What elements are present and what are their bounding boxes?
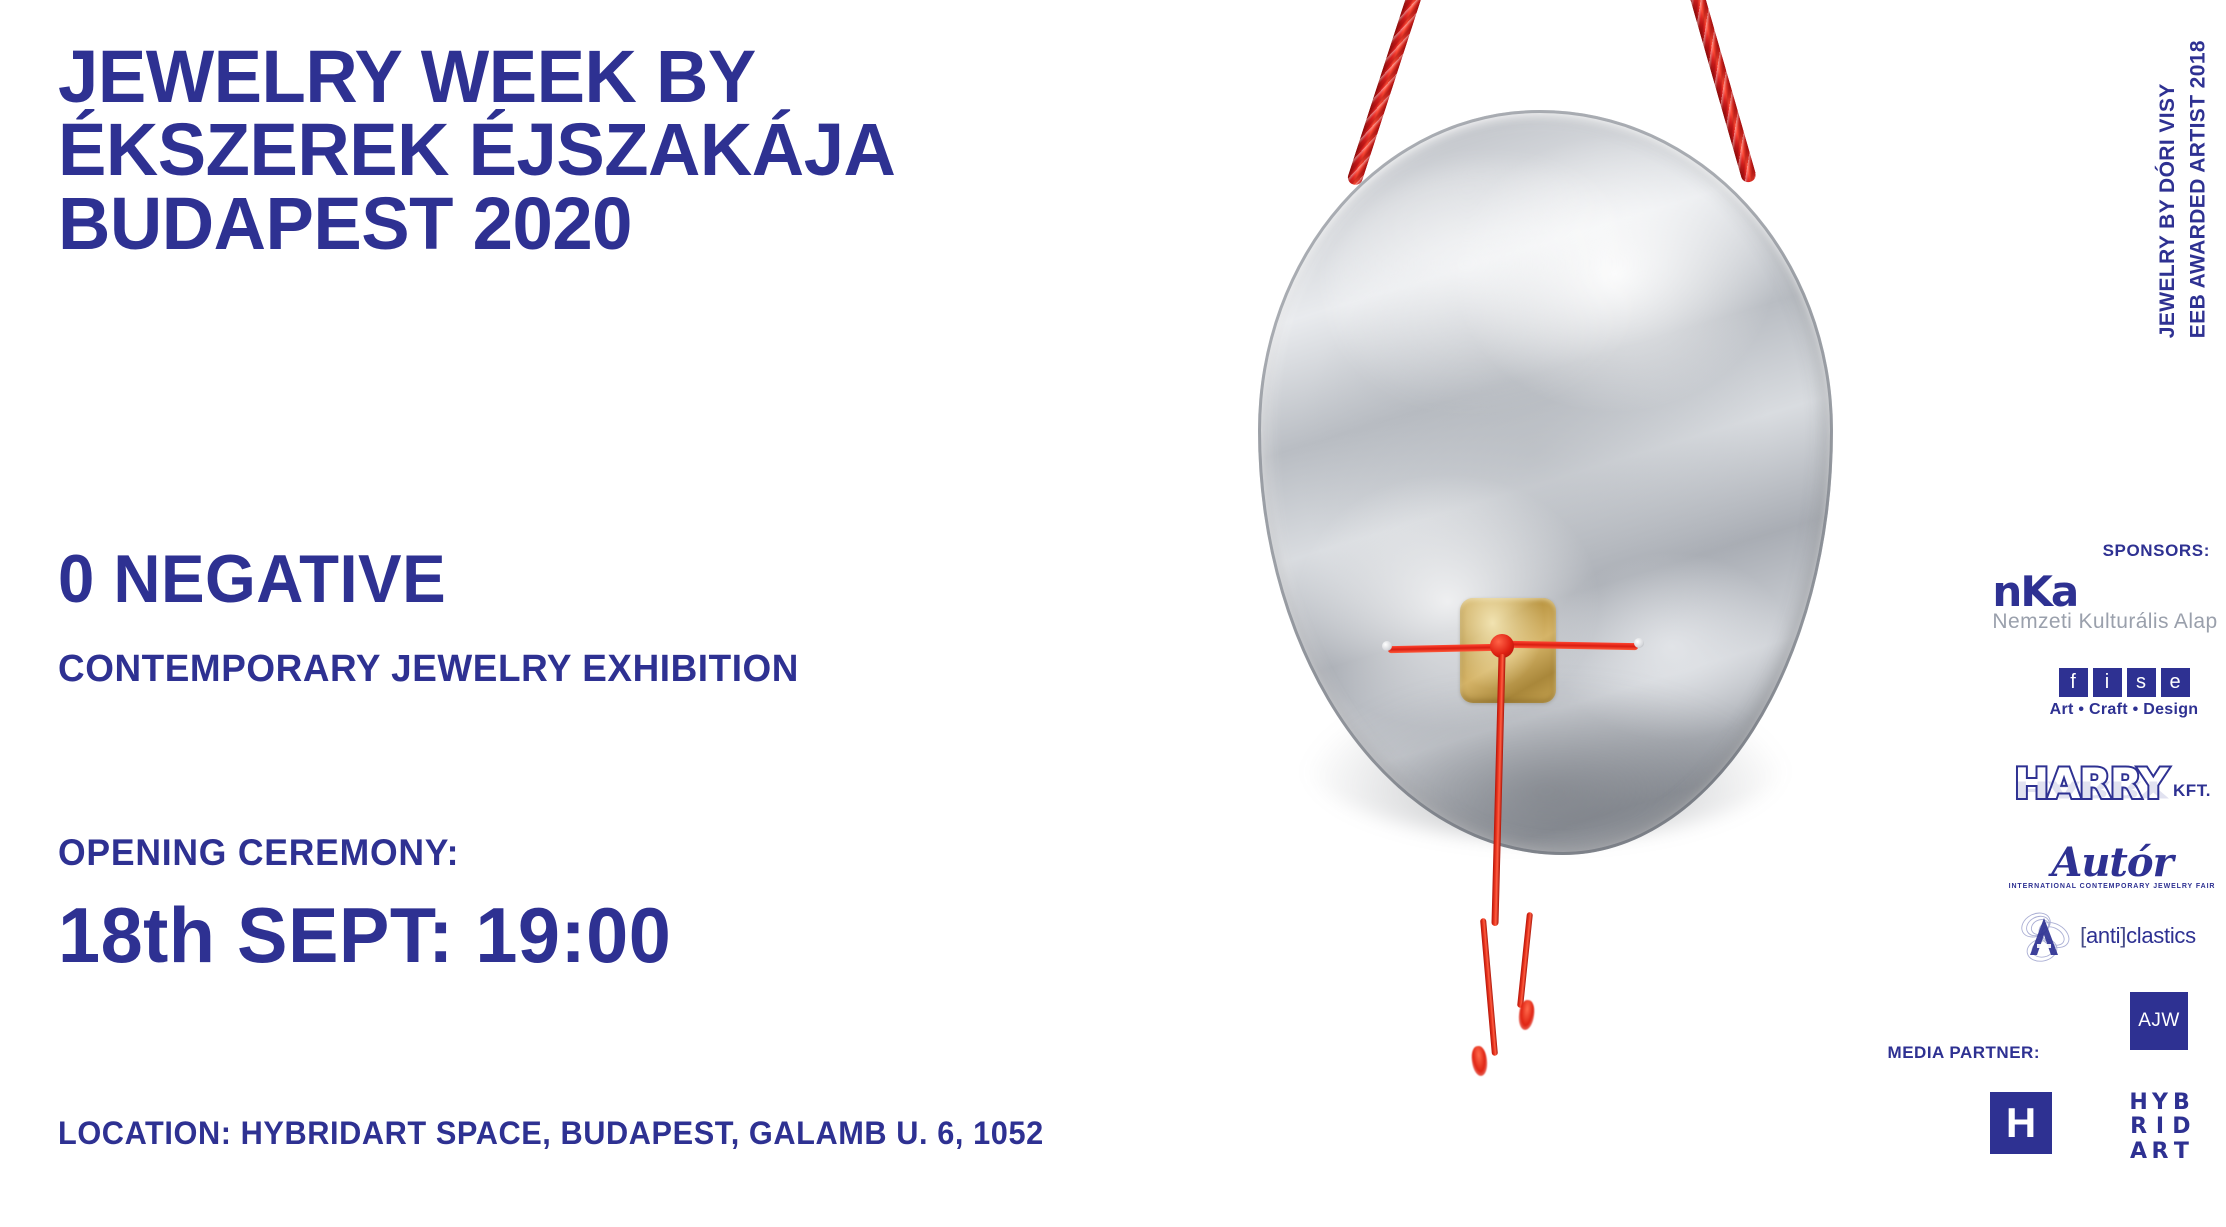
artist-credit-line-1: JEWELRY BY DÓRI VISY	[2153, 40, 2183, 338]
anticlastics-anti: anti	[2086, 923, 2120, 948]
sponsor-logo-autor: Autór INTERNATIONAL CONTEMPORARY JEWELRY…	[2012, 838, 2212, 896]
red-thread-strand-b	[1517, 912, 1533, 1008]
hybridart-cell-8: T	[2172, 1140, 2190, 1163]
red-thread-strand-a	[1480, 918, 1498, 1056]
left-text-column: JEWELRY WEEK BY ÉKSZEREK ÉJSZAKÁJA BUDAP…	[58, 0, 1158, 1227]
sponsor-logo-fise: f i s e Art • Craft • Design	[2034, 662, 2214, 724]
hybridart-cell-2: B	[2172, 1091, 2190, 1114]
sponsors-label: SPONSORS:	[2103, 541, 2210, 561]
silver-pendant-body	[1258, 110, 1833, 855]
media-partner-logo-hybridart: H Y B R I D A R T	[2120, 1090, 2200, 1164]
media-partner-logo-h: H	[1988, 1090, 2054, 1156]
sponsor-logo-harry: HARRY KFT. HARRY	[2005, 752, 2220, 816]
thread-frayed-end-a	[1470, 1045, 1489, 1077]
pendant-artwork	[1150, 0, 1940, 1227]
opening-ceremony-datetime: 18th SEPT: 19:00	[58, 890, 671, 981]
ajw-wordmark: AJW	[2130, 992, 2188, 1050]
hybridart-cell-7: R	[2151, 1140, 2169, 1163]
headline-line-2: ÉKSZEREK ÉJSZAKÁJA	[58, 113, 895, 186]
thread-tip-left	[1382, 641, 1392, 651]
h-square-wordmark: H	[1990, 1092, 2052, 1154]
event-headline: JEWELRY WEEK BY ÉKSZEREK ÉJSZAKÁJA BUDAP…	[58, 40, 895, 260]
sponsor-logo-anticlastics: [anti]clastics	[1990, 900, 2220, 972]
pendant-rim	[1258, 110, 1833, 855]
necklace-cord-right	[1685, 0, 1757, 184]
exhibition-subtitle: CONTEMPORARY JEWELRY EXHIBITION	[58, 650, 799, 688]
artist-credit-line-2: EEB AWARDED ARTIST 2018	[2184, 40, 2214, 338]
anticlastics-a-icon	[2014, 905, 2076, 967]
anticlastics-wordmark: [anti]clastics	[2080, 923, 2196, 949]
pendant-highlight	[1327, 162, 1661, 415]
nka-wordmark: nKa	[1992, 574, 2217, 610]
poster: JEWELRY WEEK BY ÉKSZEREK ÉJSZAKÁJA BUDAP…	[0, 0, 2226, 1227]
fise-letter-f: f	[2059, 668, 2088, 697]
fise-letter-boxes: f i s e	[2059, 668, 2190, 697]
hybridart-cell-5: D	[2172, 1115, 2190, 1138]
artist-credit: JEWELRY BY DÓRI VISY EEB AWARDED ARTIST …	[2153, 40, 2214, 338]
fise-letter-s: s	[2127, 668, 2156, 697]
hybridart-cell-1: Y	[2151, 1091, 2169, 1114]
headline-line-1: JEWELRY WEEK BY	[58, 40, 895, 113]
fise-letter-i: i	[2093, 668, 2122, 697]
hybridart-cell-4: I	[2151, 1115, 2169, 1138]
opening-ceremony-label: OPENING CEREMONY:	[58, 832, 459, 874]
location-line: LOCATION: HYBRIDART SPACE, BUDAPEST, GAL…	[58, 1115, 1044, 1152]
sponsor-logo-ajw: AJW	[2128, 990, 2190, 1052]
hybridart-cell-6: A	[2129, 1140, 2147, 1163]
headline-line-3: BUDAPEST 2020	[58, 187, 895, 260]
media-partner-label: MEDIA PARTNER:	[1888, 1043, 2040, 1063]
right-rail: JEWELRY BY DÓRI VISY EEB AWARDED ARTIST …	[1930, 0, 2226, 1227]
anticlastics-clastics: clastics	[2126, 923, 2196, 948]
exhibition-title: 0 NEGATIVE	[58, 545, 446, 613]
harry-suffix: KFT.	[2173, 781, 2211, 805]
autor-tagline: INTERNATIONAL CONTEMPORARY JEWELRY FAIR	[2009, 883, 2216, 890]
sponsor-logo-nka: nKa Nemzeti Kulturális Alap	[1990, 572, 2220, 634]
autor-wordmark: Autór	[2051, 844, 2172, 882]
fise-letter-e: e	[2161, 668, 2190, 697]
hybridart-letter-grid: H Y B R I D A R T	[2129, 1091, 2190, 1162]
nka-subtitle: Nemzeti Kulturális Alap	[1992, 611, 2217, 632]
harry-wordmark: HARRY	[2014, 763, 2167, 805]
hybridart-cell-3: R	[2129, 1115, 2147, 1138]
hybridart-cell-0: H	[2129, 1091, 2147, 1114]
fise-tagline: Art • Craft • Design	[2050, 701, 2199, 719]
thread-tip-right	[1634, 638, 1644, 648]
